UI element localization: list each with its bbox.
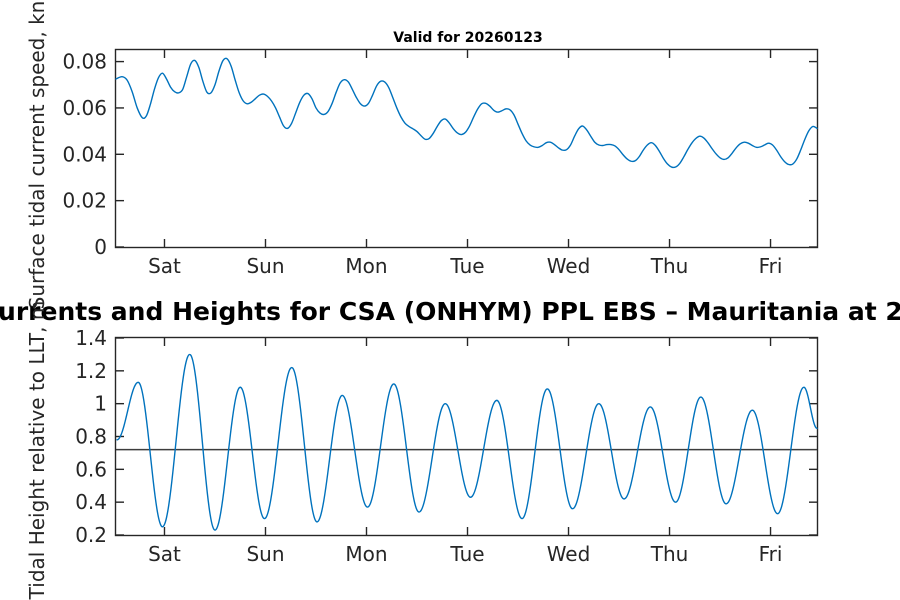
x-tick-label: Wed — [547, 542, 591, 566]
y-tick-label: 0.04 — [62, 142, 107, 166]
y-tick-label: 0.06 — [62, 96, 107, 120]
y-tick-label: 0.02 — [62, 189, 107, 213]
x-tick-label: Fri — [759, 254, 783, 278]
top-panel-title: Valid for 20260123 — [393, 30, 542, 46]
figure-canvas: Valid for 20260123 Surface tidal current… — [0, 0, 900, 600]
y-tick-label: 1.2 — [75, 359, 107, 383]
x-tick-label: Wed — [547, 254, 591, 278]
x-tick-label: Thu — [650, 254, 689, 278]
y-tick-label: 0.4 — [75, 490, 107, 514]
y-tick-label: 0.2 — [75, 523, 107, 547]
y-tick-label: 1.4 — [75, 326, 107, 350]
x-tick-label: Sun — [246, 542, 284, 566]
y-tick-label: 0.6 — [75, 457, 107, 481]
x-tick-label: Thu — [650, 542, 689, 566]
tide-figure: Valid for 20260123 Surface tidal current… — [0, 0, 900, 600]
bottom-y-axis-label: Tidal Height relative to LLT, m — [25, 301, 49, 600]
bottom-y-tick-labels: 0.20.40.60.811.21.4 — [75, 326, 107, 547]
x-tick-label: Mon — [345, 254, 387, 278]
x-tick-label: Sun — [246, 254, 284, 278]
top-y-axis-label: Surface tidal current speed, kn — [25, 1, 49, 310]
bottom-y-axis-label-text: Tidal Height relative to LLT, m — [25, 301, 49, 600]
y-tick-label: 0.08 — [62, 50, 107, 74]
x-tick-label: Mon — [345, 542, 387, 566]
x-tick-label: Sat — [148, 254, 181, 278]
y-tick-label: 1 — [94, 392, 107, 416]
top-y-axis-label-text: Surface tidal current speed, kn — [25, 1, 49, 310]
figure-title: l Currents and Heights for CSA (ONHYM) P… — [0, 297, 900, 326]
y-tick-label: 0.8 — [75, 425, 107, 449]
x-tick-label: Tue — [449, 254, 484, 278]
x-tick-label: Fri — [759, 542, 783, 566]
y-tick-label: 0 — [94, 235, 107, 259]
x-tick-label: Tue — [449, 542, 484, 566]
x-tick-label: Sat — [148, 542, 181, 566]
